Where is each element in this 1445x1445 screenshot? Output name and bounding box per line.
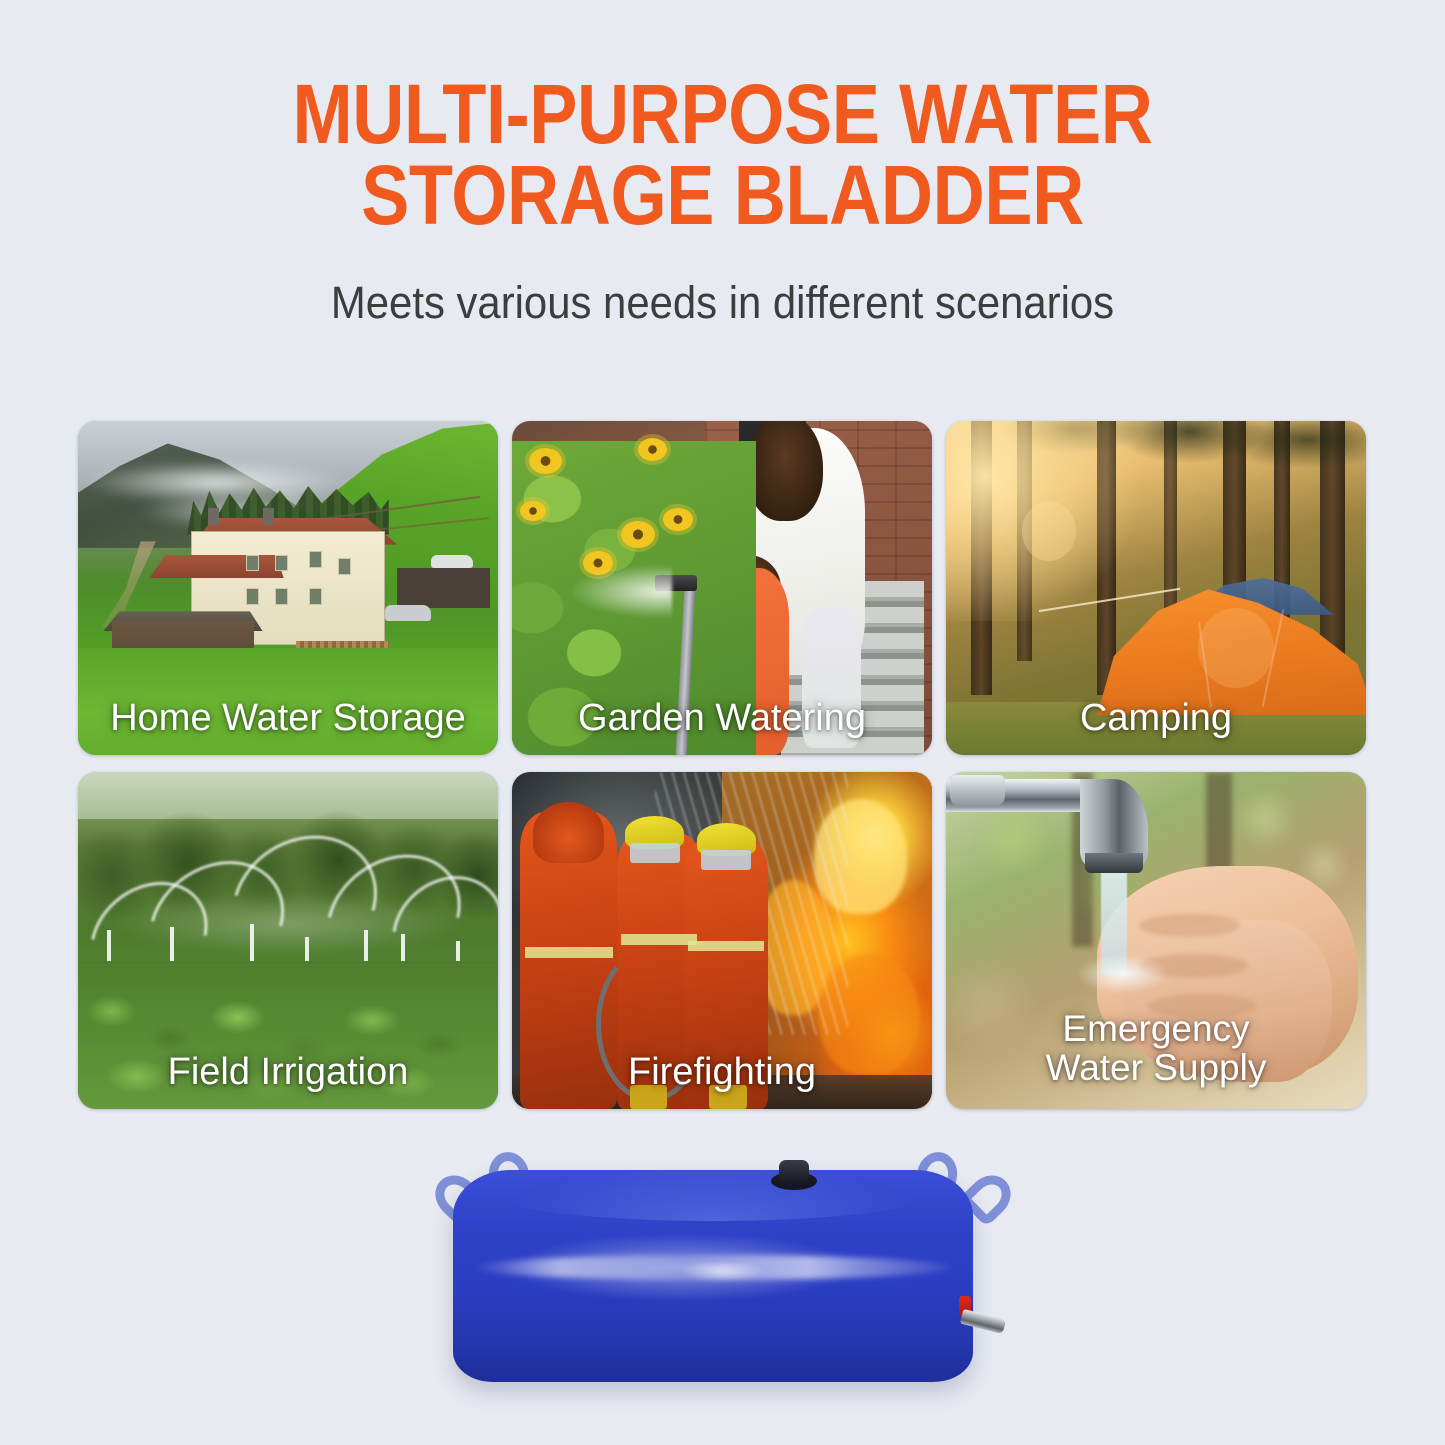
scenario-label: Emergency Water Supply — [946, 1010, 1366, 1087]
scenario-card-garden-watering[interactable]: Garden Watering — [512, 421, 932, 755]
scenario-label: Field Irrigation — [78, 1053, 498, 1093]
black-screw-cap — [779, 1160, 809, 1182]
product-image — [423, 1128, 1023, 1428]
scenario-card-field-irrigation[interactable]: Field Irrigation — [78, 772, 498, 1109]
scenario-card-firefighting[interactable]: Firefighting — [512, 772, 932, 1109]
water-bladder-body — [453, 1170, 973, 1382]
scenario-card-emergency-water-supply[interactable]: Emergency Water Supply — [946, 772, 1366, 1109]
scenario-card-home-water-storage[interactable]: Home Water Storage — [78, 421, 498, 755]
scenario-grid: Home Water Storage Garden Watering Campi… — [78, 421, 1366, 1109]
scenario-label: Camping — [946, 699, 1366, 739]
scenario-card-camping[interactable]: Camping — [946, 421, 1366, 755]
scenario-label: Home Water Storage — [78, 699, 498, 739]
scenario-label: Garden Watering — [512, 699, 932, 739]
page-title: MULTI-PURPOSE WATER STORAGE BLADDER — [101, 74, 1344, 237]
header: MULTI-PURPOSE WATER STORAGE BLADDER Meet… — [0, 0, 1445, 329]
page-subtitle: Meets various needs in different scenari… — [51, 277, 1395, 329]
scenario-label: Firefighting — [512, 1053, 932, 1093]
